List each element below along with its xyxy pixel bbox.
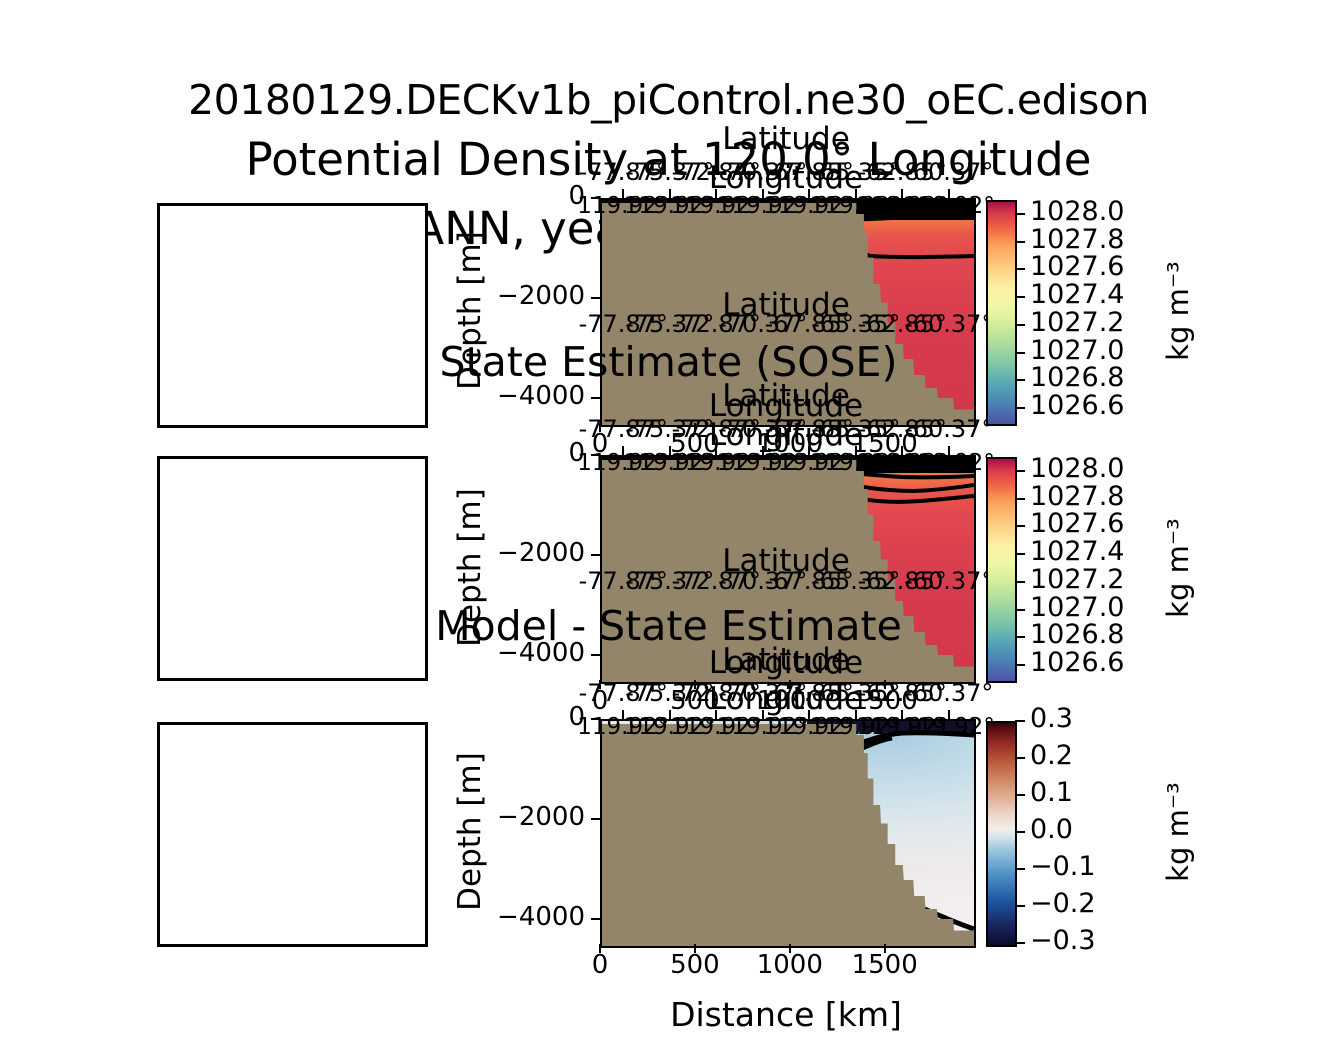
- y-tick-label[interactable]: −4000: [400, 638, 585, 668]
- colorbar-tick-label[interactable]: −0.2: [1030, 888, 1096, 919]
- y-axis-label[interactable]: Depth [m]: [452, 719, 488, 944]
- colorbar-tick-label[interactable]: 1026.6: [1030, 647, 1124, 678]
- colorbar-tick[interactable]: [1015, 324, 1025, 326]
- longitude-axis-label-overlap[interactable]: Longitude: [600, 645, 972, 681]
- colorbar-tick[interactable]: [1015, 757, 1025, 759]
- x-tick-label[interactable]: 0: [592, 950, 609, 980]
- colorbar-tick[interactable]: [1015, 664, 1025, 666]
- colorbar-tick-label[interactable]: 1027.0: [1030, 335, 1124, 366]
- colorbar-tick[interactable]: [1015, 905, 1025, 907]
- colorbar-tick-label[interactable]: 1028.0: [1030, 453, 1124, 484]
- x-tick-label[interactable]: 1500: [852, 950, 918, 980]
- colorbar-tick[interactable]: [1015, 268, 1025, 270]
- longitude-tick-row[interactable]: 119.92°119.92°119.92°119.92°119.92°119.9…: [600, 193, 972, 223]
- longitude-axis-label[interactable]: Longitude: [600, 160, 972, 196]
- latitude-tick-label: -60.37°: [904, 567, 993, 595]
- longitude-tick-label: 119.92°: [903, 450, 995, 476]
- colorbar-tick[interactable]: [1015, 470, 1025, 472]
- colorbar-tick[interactable]: [1015, 525, 1025, 527]
- colorbar-2[interactable]: [986, 457, 1017, 683]
- colorbar-tick[interactable]: [1015, 352, 1025, 354]
- colorbar-tick-label[interactable]: 1027.2: [1030, 307, 1124, 338]
- y-tick-label[interactable]: −4000: [400, 381, 585, 411]
- colorbar-tick-label[interactable]: −0.1: [1030, 851, 1096, 882]
- colorbar-tick[interactable]: [1015, 942, 1025, 944]
- colorbar-tick[interactable]: [1015, 831, 1025, 833]
- y-tick-label[interactable]: 0: [400, 702, 585, 732]
- y-tick[interactable]: [591, 654, 600, 656]
- colorbar-tick-label[interactable]: 1027.6: [1030, 508, 1124, 539]
- y-tick[interactable]: [591, 918, 600, 920]
- y-tick[interactable]: [591, 397, 600, 399]
- colorbar-unit-label[interactable]: kg m⁻³: [1161, 457, 1195, 679]
- x-tick-label[interactable]: 500: [670, 950, 720, 980]
- y-tick[interactable]: [591, 297, 600, 299]
- latitude-tick-row-overlap[interactable]: -77.87°-75.37°-72.87°-70.37°-67.85°-65.3…: [600, 310, 972, 340]
- colorbar-tick[interactable]: [1015, 213, 1025, 215]
- colorbar-tick-label[interactable]: 1028.0: [1030, 196, 1124, 227]
- figure-suptitle: 20180129.DECKv1b_piControl.ne30_oEC.edis…: [0, 76, 1337, 124]
- y-tick[interactable]: [591, 554, 600, 556]
- inset-map-panel-1: [157, 203, 428, 428]
- colorbar-3[interactable]: [986, 721, 1017, 947]
- colorbar-tick[interactable]: [1015, 868, 1025, 870]
- x-axis-label: Distance [km]: [600, 995, 972, 1034]
- colorbar-tick[interactable]: [1015, 407, 1025, 409]
- colorbar-tick[interactable]: [1015, 241, 1025, 243]
- colorbar-tick[interactable]: [1015, 794, 1025, 796]
- colorbar-tick-label[interactable]: 1026.8: [1030, 362, 1124, 393]
- colorbar-tick[interactable]: [1015, 720, 1025, 722]
- colorbar-tick-label[interactable]: 1027.8: [1030, 481, 1124, 512]
- colorbar-tick-label[interactable]: 0.1: [1030, 777, 1073, 808]
- colorbar-unit-label[interactable]: kg m⁻³: [1161, 200, 1195, 422]
- panel-3-axes: [600, 719, 976, 948]
- colorbar-tick-label[interactable]: 0.3: [1030, 703, 1073, 734]
- colorbar-tick[interactable]: [1015, 553, 1025, 555]
- colorbar-1[interactable]: [986, 200, 1017, 426]
- colorbar-tick-label[interactable]: 0.0: [1030, 814, 1073, 845]
- y-axis-label[interactable]: Depth [m]: [452, 455, 488, 680]
- inset-map-panel-3: [157, 722, 428, 947]
- y-tick-label[interactable]: −4000: [400, 902, 585, 932]
- y-tick-label[interactable]: 0: [400, 181, 585, 211]
- longitude-tick-row[interactable]: 119.92°119.92°119.92°119.92°119.92°119.9…: [600, 450, 972, 480]
- y-tick-label[interactable]: 0: [400, 438, 585, 468]
- colorbar-tick-label[interactable]: 1027.2: [1030, 564, 1124, 595]
- longitude-tick-label: 119.92°: [903, 193, 995, 219]
- longitude-axis-label-overlap[interactable]: Longitude: [600, 388, 972, 424]
- longitude-tick-label: 119.92°: [903, 714, 995, 740]
- difference-field: [602, 721, 974, 946]
- colorbar-tick-label[interactable]: 1026.6: [1030, 390, 1124, 421]
- colorbar-tick[interactable]: [1015, 581, 1025, 583]
- colorbar-tick[interactable]: [1015, 296, 1025, 298]
- colorbar-tick-label[interactable]: 1027.0: [1030, 592, 1124, 623]
- latitude-tick-row-overlap[interactable]: -77.87°-75.37°-72.87°-70.37°-67.85°-65.3…: [600, 567, 972, 597]
- colorbar-tick-label[interactable]: 1026.8: [1030, 619, 1124, 650]
- colorbar-tick-label[interactable]: 1027.6: [1030, 251, 1124, 282]
- y-tick[interactable]: [591, 818, 600, 820]
- colorbar-unit-label[interactable]: kg m⁻³: [1161, 721, 1195, 943]
- colorbar-tick-label[interactable]: −0.3: [1030, 925, 1096, 956]
- y-tick-label[interactable]: −2000: [400, 281, 585, 311]
- colorbar-tick[interactable]: [1015, 379, 1025, 381]
- colorbar-tick-label[interactable]: 0.2: [1030, 740, 1073, 771]
- y-tick-label[interactable]: −2000: [400, 802, 585, 832]
- latitude-tick-label: -60.37°: [904, 310, 993, 338]
- y-axis-label[interactable]: Depth [m]: [452, 198, 488, 423]
- colorbar-tick[interactable]: [1015, 636, 1025, 638]
- x-tick-label[interactable]: 1000: [757, 950, 823, 980]
- colorbar-tick[interactable]: [1015, 498, 1025, 500]
- colorbar-tick-label[interactable]: 1027.8: [1030, 224, 1124, 255]
- longitude-axis-label[interactable]: Longitude: [600, 681, 972, 717]
- colorbar-tick-label[interactable]: 1027.4: [1030, 279, 1124, 310]
- latitude-axis-label[interactable]: Latitude: [600, 121, 972, 157]
- colorbar-tick-label[interactable]: 1027.4: [1030, 536, 1124, 567]
- longitude-tick-row[interactable]: 119.92°119.92°119.92°119.92°119.92°119.9…: [600, 714, 972, 744]
- colorbar-tick[interactable]: [1015, 609, 1025, 611]
- y-tick-label[interactable]: −2000: [400, 538, 585, 568]
